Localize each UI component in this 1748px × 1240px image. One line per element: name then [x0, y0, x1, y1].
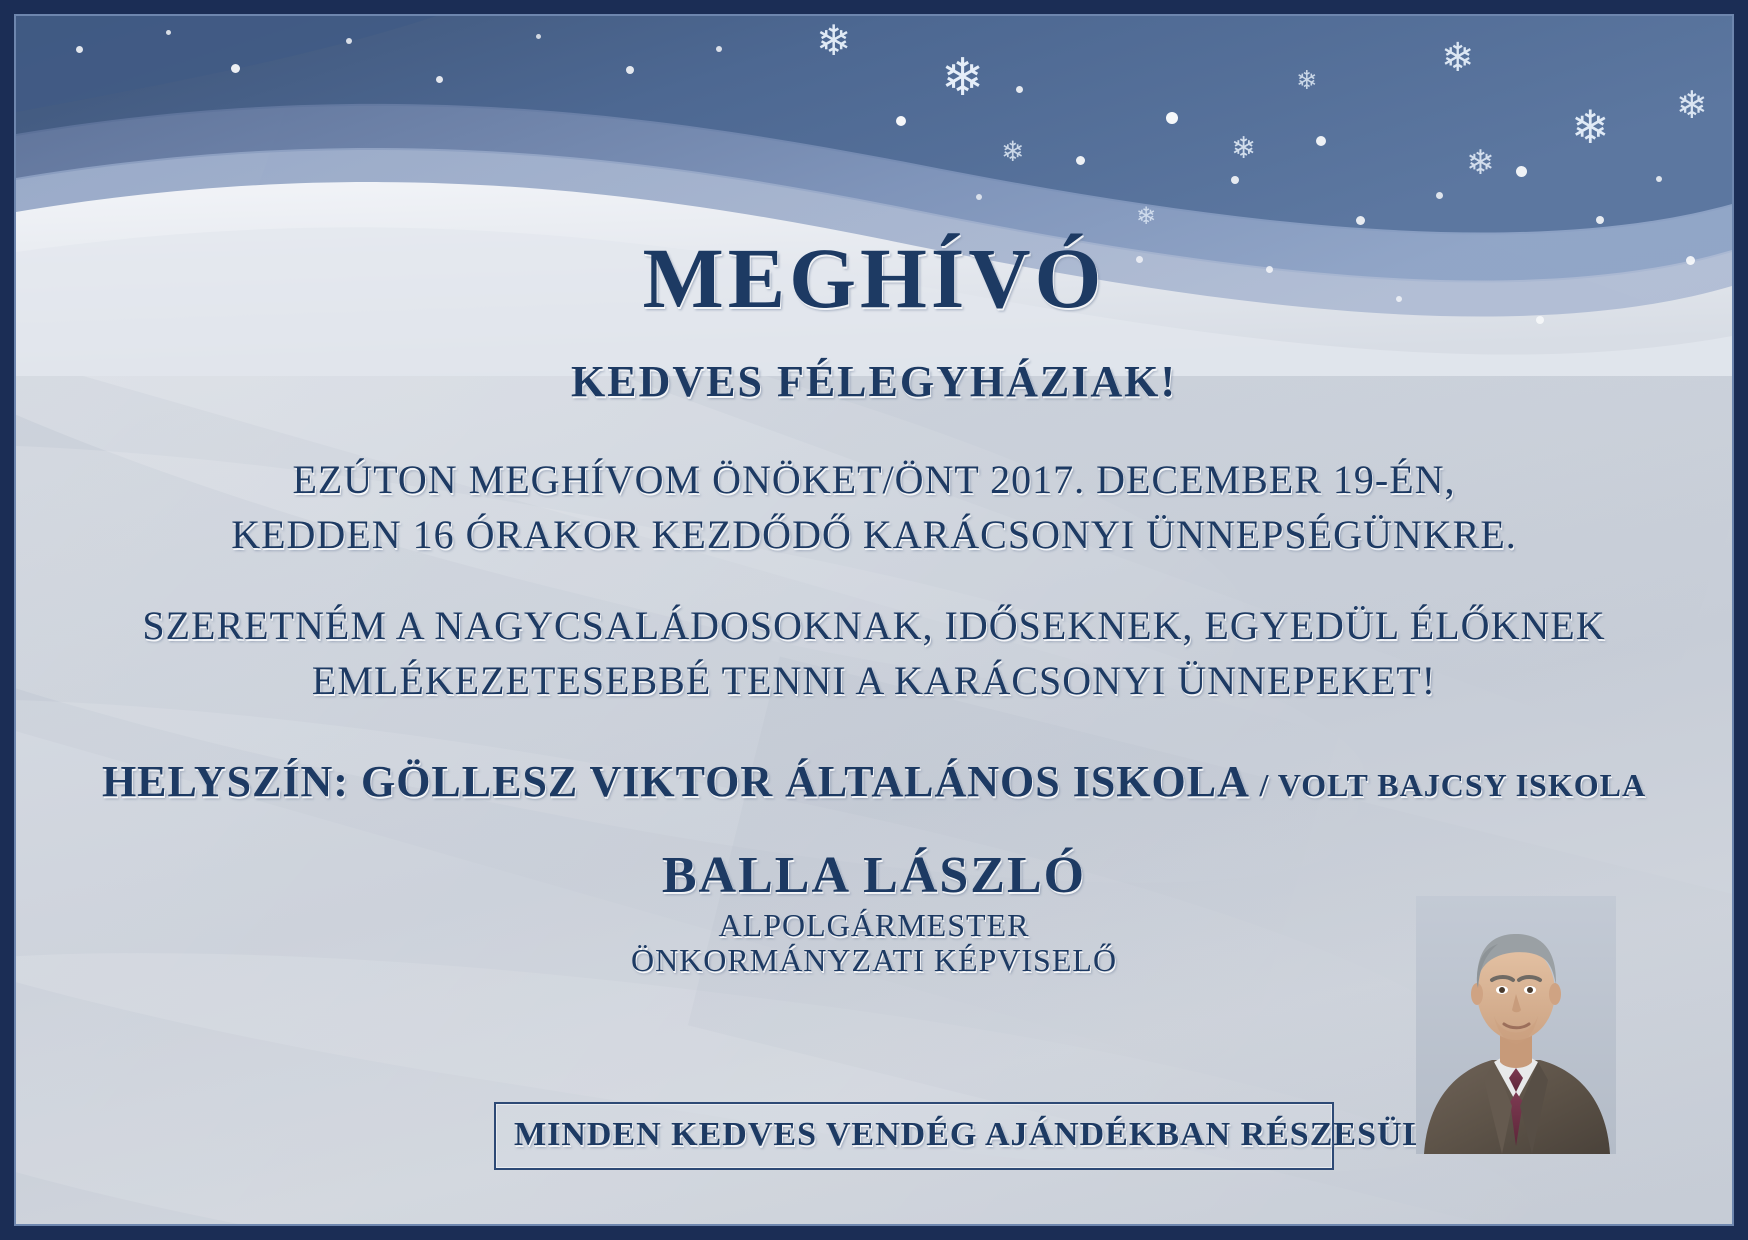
venue-note: / VOLT BAJCSY ISKOLA — [1259, 767, 1646, 803]
venue-line: HELYSZÍN: GÖLLESZ VIKTOR ÁLTALÁNOS ISKOL… — [16, 756, 1732, 807]
gift-banner-text: MINDEN KEDVES VENDÉG AJÁNDÉKBAN RÉSZESÜL… — [514, 1116, 1314, 1154]
portrait-photo — [1416, 896, 1616, 1154]
invite-line-2: KEDDEN 16 ÓRAKOR KEZDŐDŐ KARÁCSONYI ÜNNE… — [16, 511, 1732, 558]
invite-line-1: EZÚTON MEGHÍVOM ÖNÖKET/ÖNT 2017. DECEMBE… — [16, 456, 1732, 503]
page-title: MEGHÍVÓ — [16, 228, 1732, 328]
invite-paragraph: EZÚTON MEGHÍVOM ÖNÖKET/ÖNT 2017. DECEMBE… — [16, 456, 1732, 566]
invitation-card: ❄ ❄ ❄ ❄ ❄ ❄ ❄ ❄ ❄ ❄ — [16, 16, 1732, 1224]
venue-label: HELYSZÍN: GÖLLESZ VIKTOR ÁLTALÁNOS ISKOL… — [102, 757, 1248, 806]
greeting-line: KEDVES FÉLEGYHÁZIAK! — [16, 356, 1732, 407]
gift-banner: MINDEN KEDVES VENDÉG AJÁNDÉKBAN RÉSZESÜL… — [494, 1102, 1334, 1170]
wish-paragraph: SZERETNÉM A NAGYCSALÁDOSOKNAK, IDŐSEKNEK… — [16, 602, 1732, 712]
wish-line-2: EMLÉKEZETESEBBÉ TENNI A KARÁCSONYI ÜNNEP… — [16, 657, 1732, 704]
invitation-poster: ❄ ❄ ❄ ❄ ❄ ❄ ❄ ❄ ❄ ❄ — [0, 0, 1748, 1240]
wish-line-1: SZERETNÉM A NAGYCSALÁDOSOKNAK, IDŐSEKNEK… — [16, 602, 1732, 649]
